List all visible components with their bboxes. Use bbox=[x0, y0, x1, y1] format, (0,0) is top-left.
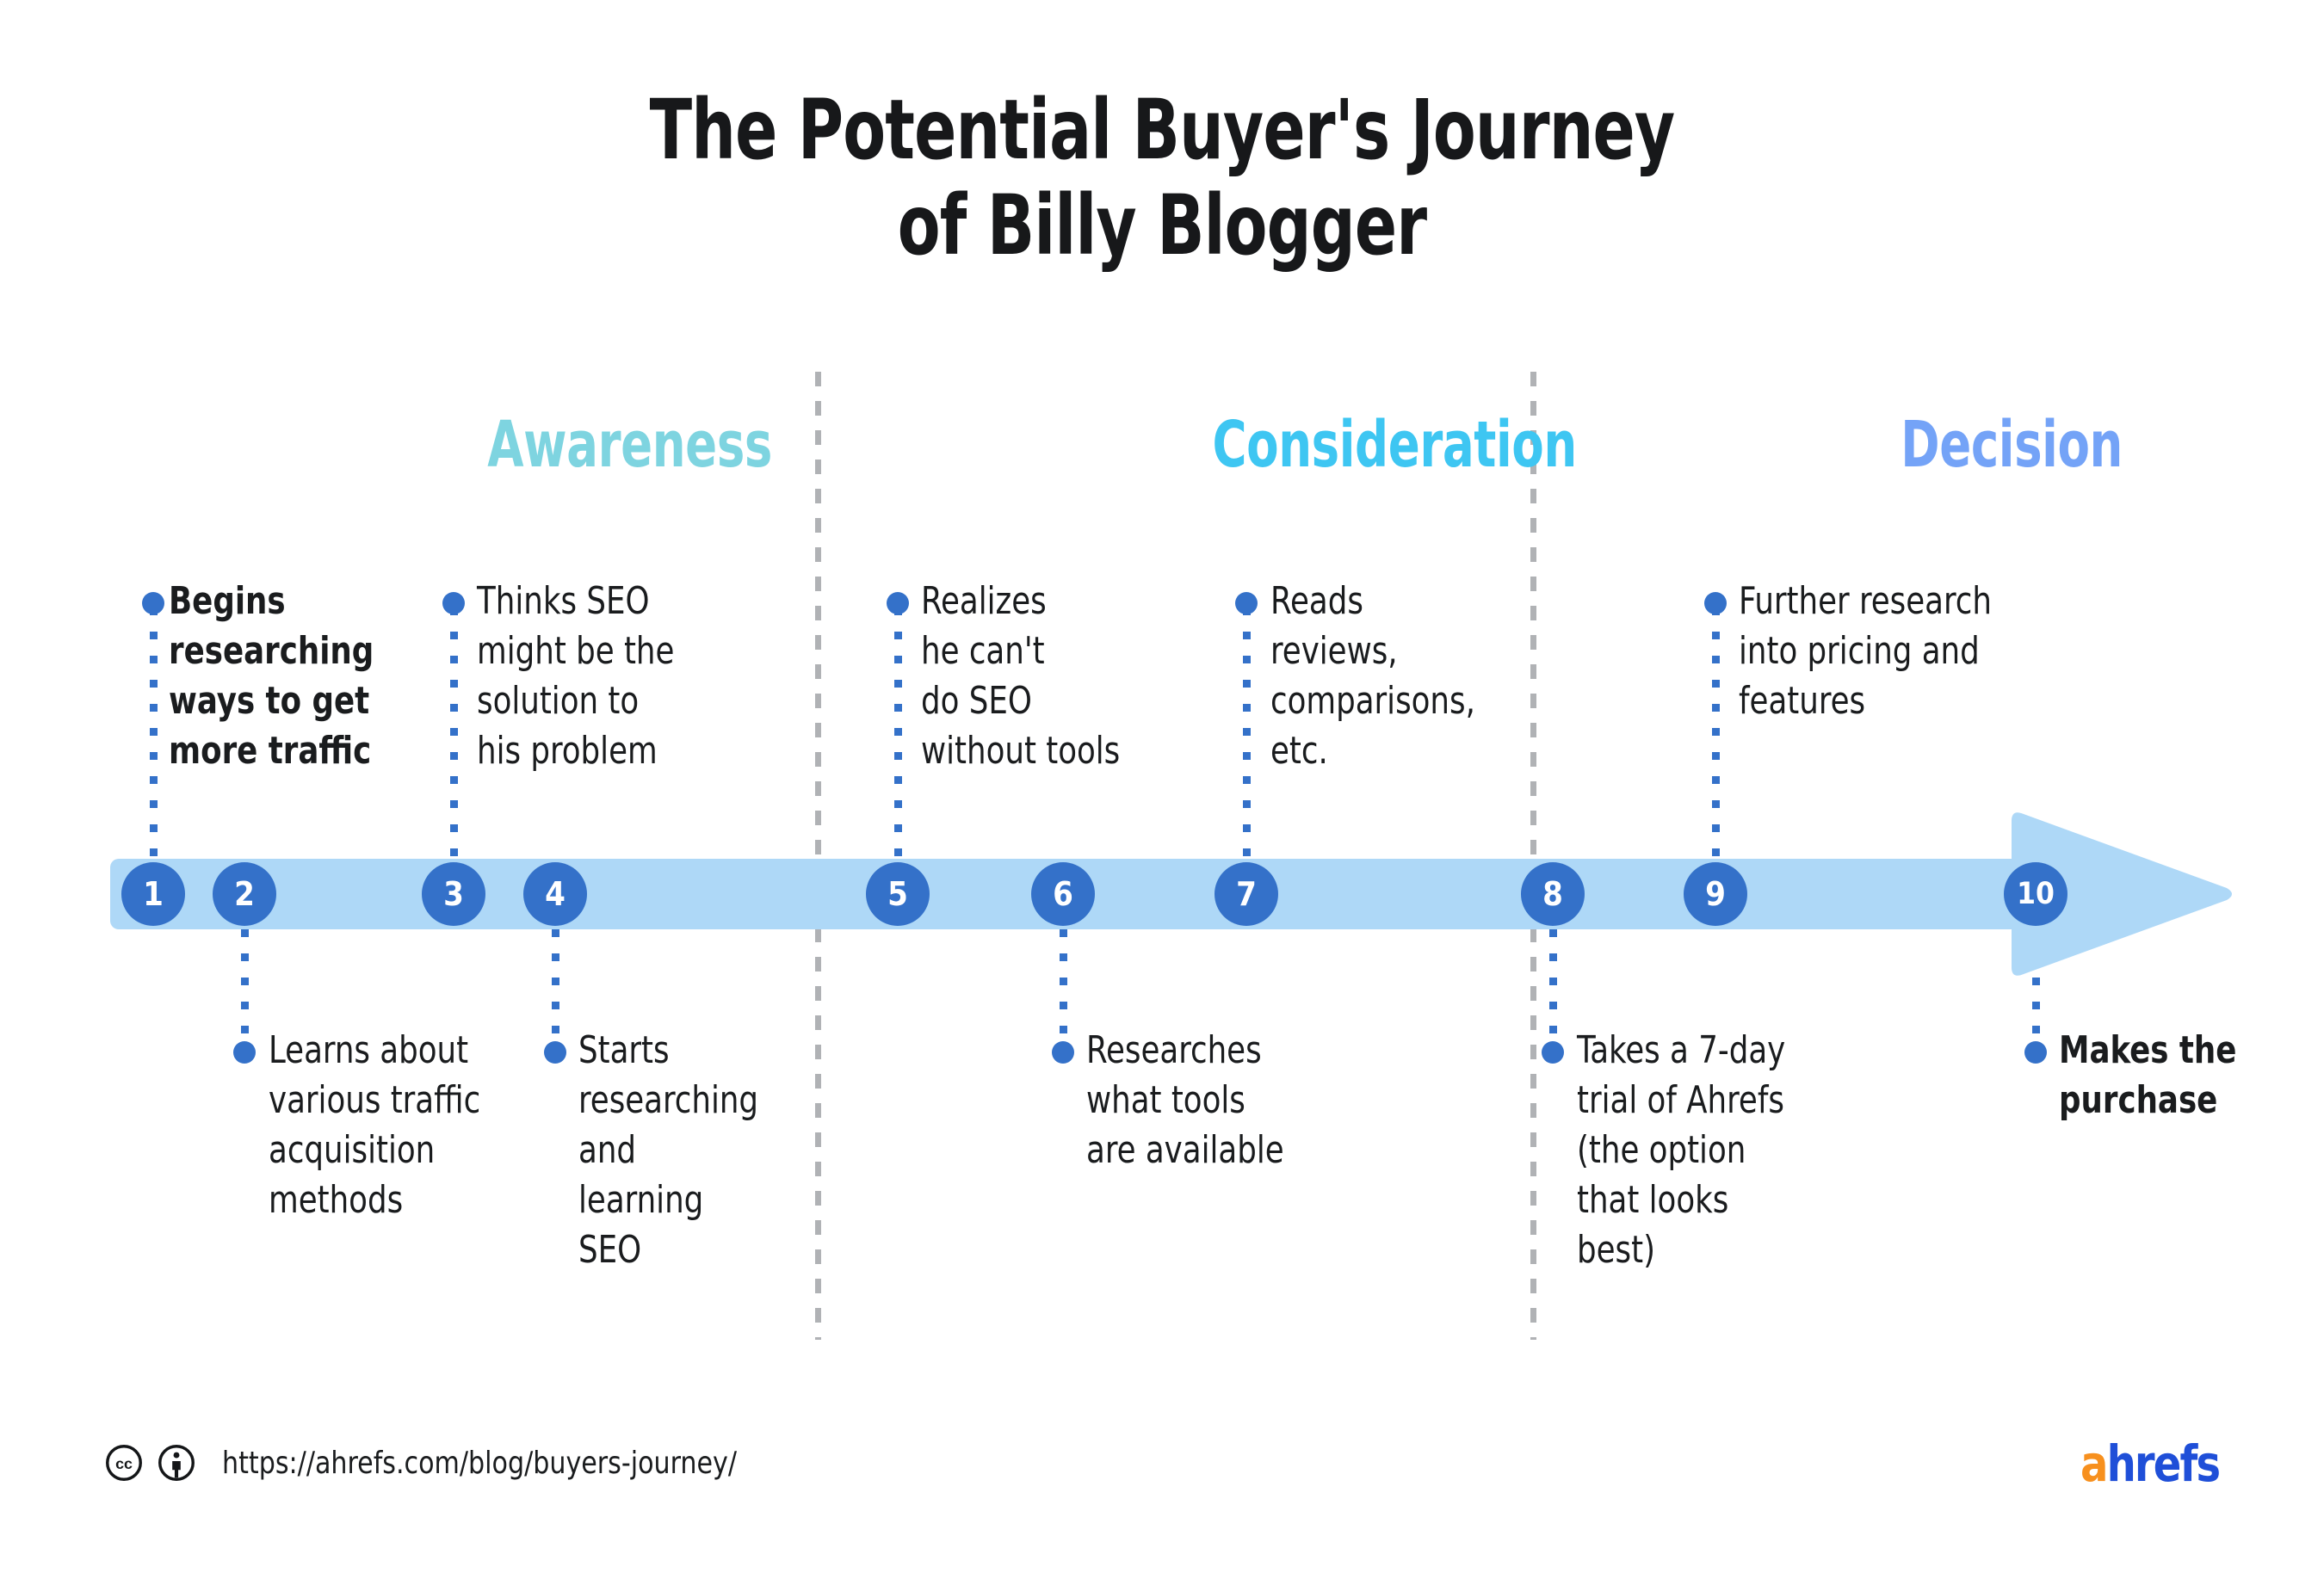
step-label-10: Makes the purchase bbox=[2059, 1026, 2236, 1126]
step-label-6: Researches what tools are available bbox=[1086, 1026, 1284, 1175]
step-label-9: Further research into pricing and featur… bbox=[1739, 577, 1992, 726]
infographic-canvas: The Potential Buyer's Journey of Billy B… bbox=[0, 0, 2324, 1579]
footer-license: cc https://ahrefs.com/blog/buyers-journe… bbox=[105, 1444, 776, 1482]
ahrefs-logo[interactable]: ahrefs bbox=[2080, 1439, 2219, 1489]
step-circle-6[interactable]: 6 bbox=[1031, 862, 1095, 926]
step-label-1: Begins researching ways to get more traf… bbox=[169, 577, 374, 776]
step-circle-1[interactable]: 1 bbox=[121, 862, 185, 926]
logo-letter-a: a bbox=[2080, 1434, 2107, 1493]
bullet-dot-3 bbox=[442, 592, 465, 614]
connector-line-5 bbox=[894, 608, 902, 859]
step-circle-10[interactable]: 10 bbox=[2004, 862, 2067, 926]
step-circle-8[interactable]: 8 bbox=[1521, 862, 1585, 926]
connector-line-1 bbox=[150, 608, 158, 859]
bullet-dot-4 bbox=[544, 1041, 566, 1064]
step-circle-5[interactable]: 5 bbox=[866, 862, 930, 926]
source-url[interactable]: https://ahrefs.com/blog/buyers-journey/ bbox=[222, 1446, 737, 1481]
step-label-3: Thinks SEO might be the solution to his … bbox=[477, 577, 674, 776]
stage-divider-1 bbox=[815, 372, 821, 1340]
step-label-4: Starts researching and learning SEO bbox=[578, 1026, 758, 1275]
step-circle-2[interactable]: 2 bbox=[213, 862, 276, 926]
bullet-dot-8 bbox=[1542, 1041, 1564, 1064]
connector-line-8 bbox=[1549, 929, 1557, 1041]
step-circle-7[interactable]: 7 bbox=[1215, 862, 1278, 926]
bullet-dot-10 bbox=[2024, 1041, 2047, 1064]
connector-line-4 bbox=[552, 929, 559, 1041]
bullet-dot-6 bbox=[1052, 1041, 1074, 1064]
step-label-8: Takes a 7-day trial of Ahrefs (the optio… bbox=[1577, 1026, 1785, 1275]
bullet-dot-9 bbox=[1704, 592, 1727, 614]
bullet-dot-2 bbox=[233, 1041, 256, 1064]
step-circle-4[interactable]: 4 bbox=[523, 862, 587, 926]
bullet-dot-1 bbox=[142, 592, 164, 614]
connector-line-7 bbox=[1243, 608, 1251, 859]
stage-divider-2 bbox=[1530, 372, 1536, 1340]
step-label-7: Reads reviews, comparisons, etc. bbox=[1270, 577, 1475, 776]
cc-icon: cc bbox=[105, 1444, 143, 1482]
bullet-dot-7 bbox=[1235, 592, 1258, 614]
bullet-dot-5 bbox=[887, 592, 909, 614]
step-label-2: Learns about various traffic acquisition… bbox=[269, 1026, 480, 1225]
step-label-5: Realizes he can't do SEO without tools bbox=[921, 577, 1120, 776]
cc-by-attribution-icon bbox=[158, 1444, 195, 1482]
connector-line-6 bbox=[1060, 929, 1067, 1041]
connector-line-2 bbox=[241, 929, 249, 1041]
page-title: The Potential Buyer's Journey of Billy B… bbox=[186, 83, 2138, 274]
svg-text:cc: cc bbox=[115, 1455, 133, 1472]
connector-line-3 bbox=[450, 608, 458, 859]
step-circle-3[interactable]: 3 bbox=[422, 862, 485, 926]
step-circle-9[interactable]: 9 bbox=[1684, 862, 1747, 926]
stage-heading-awareness: Awareness bbox=[487, 413, 772, 477]
stage-heading-decision: Decision bbox=[1901, 413, 2123, 477]
connector-line-9 bbox=[1712, 608, 1720, 859]
logo-text-hrefs: hrefs bbox=[2106, 1434, 2219, 1493]
stage-heading-consideration: Consideration bbox=[1212, 413, 1576, 477]
